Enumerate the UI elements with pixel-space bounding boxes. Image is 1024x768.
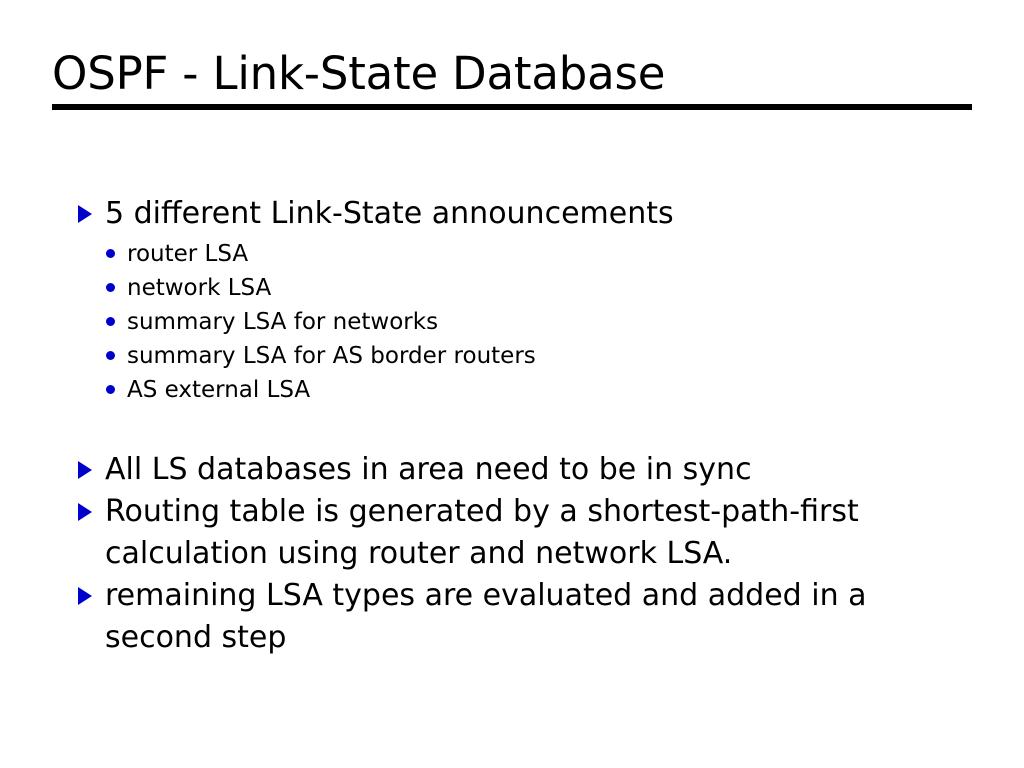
dot-bullet-icon — [106, 351, 115, 360]
sub-bullet-item: summary LSA for networks — [0, 305, 1024, 339]
title-underline-rule — [52, 104, 972, 110]
sub-bullet-list: router LSA network LSA summary LSA for n… — [0, 237, 1024, 407]
slide-body: 5 different Link-State announcements rou… — [0, 193, 1024, 659]
bullet-item: All LS databases in area need to be in s… — [0, 449, 1024, 491]
dot-bullet-icon — [106, 283, 115, 292]
bullet-item: Routing table is generated by a shortest… — [0, 491, 1024, 575]
bullet-text: remaining LSA types are evaluated and ad… — [105, 575, 944, 659]
triangle-bullet-icon — [78, 461, 92, 479]
bullet-text: Routing table is generated by a shortest… — [105, 491, 944, 575]
page-title: OSPF - Link-State Database — [52, 46, 972, 102]
sub-bullet-item: router LSA — [0, 237, 1024, 271]
sub-bullet-item: network LSA — [0, 271, 1024, 305]
dot-bullet-icon — [106, 317, 115, 326]
sub-bullet-item: summary LSA for AS border routers — [0, 339, 1024, 373]
sub-bullet-text: summary LSA for networks — [127, 305, 1024, 339]
dot-bullet-icon — [106, 385, 115, 394]
bullet-text: All LS databases in area need to be in s… — [105, 449, 944, 491]
triangle-bullet-icon — [78, 587, 92, 605]
sub-bullet-text: router LSA — [127, 237, 1024, 271]
bullet-item: remaining LSA types are evaluated and ad… — [0, 575, 1024, 659]
bullet-text: 5 different Link-State announcements — [105, 193, 944, 235]
sub-bullet-text: AS external LSA — [127, 373, 1024, 407]
sub-bullet-item: AS external LSA — [0, 373, 1024, 407]
triangle-bullet-icon — [78, 205, 92, 223]
triangle-bullet-icon — [78, 503, 92, 521]
block-spacer — [0, 407, 1024, 449]
title-block: OSPF - Link-State Database — [52, 46, 972, 102]
bullet-item: 5 different Link-State announcements — [0, 193, 1024, 235]
sub-bullet-text: summary LSA for AS border routers — [127, 339, 1024, 373]
sub-bullet-text: network LSA — [127, 271, 1024, 305]
dot-bullet-icon — [106, 249, 115, 258]
slide: OSPF - Link-State Database 5 different L… — [0, 0, 1024, 768]
